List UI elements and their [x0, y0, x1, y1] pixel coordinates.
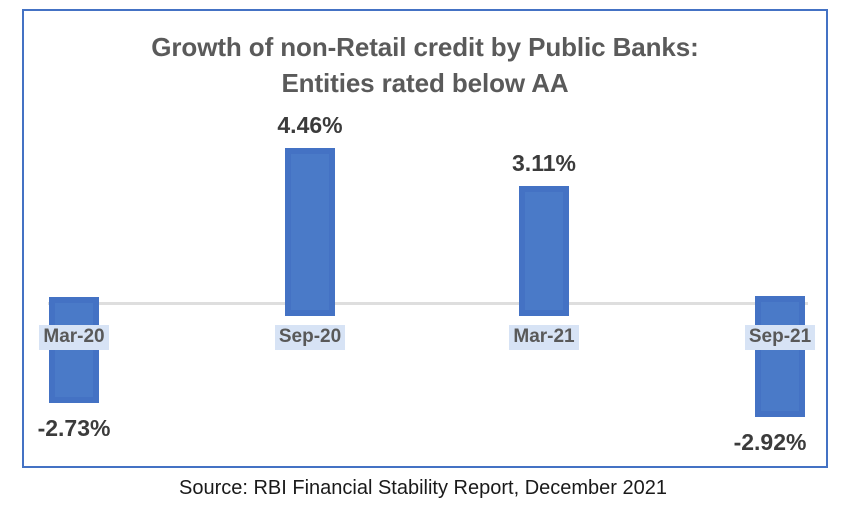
- category-label-mar-20: Mar-20: [0, 325, 154, 350]
- bar-group-0: Mar-20 -2.73%: [0, 11, 154, 466]
- bar-group-2: Mar-21 3.11%: [464, 11, 624, 466]
- category-label-sep-21: Sep-21: [700, 325, 846, 350]
- chart-canvas: Growth of non-Retail credit by Public Ba…: [0, 0, 846, 512]
- bar-sep-20[interactable]: [285, 148, 335, 316]
- category-label-mar-20-text: Mar-20: [39, 325, 108, 350]
- bar-mar-21[interactable]: [519, 186, 569, 316]
- category-label-sep-20: Sep-20: [230, 325, 390, 350]
- chart-plot-frame: Growth of non-Retail credit by Public Ba…: [22, 9, 828, 468]
- category-label-sep-21-text: Sep-21: [745, 325, 815, 350]
- category-label-sep-20-text: Sep-20: [275, 325, 345, 350]
- category-label-mar-21: Mar-21: [464, 325, 624, 350]
- value-label-sep-21: -2.92%: [690, 429, 846, 456]
- value-label-mar-21: 3.11%: [464, 150, 624, 177]
- value-label-sep-20: 4.46%: [230, 112, 390, 139]
- source-note: Source: RBI Financial Stability Report, …: [0, 477, 846, 500]
- bar-mar-20[interactable]: [49, 297, 99, 403]
- plot-area: Mar-20 -2.73% Sep-20 4.46% Mar-21 3.11%: [24, 11, 826, 466]
- bar-sep-21[interactable]: [755, 296, 805, 417]
- category-label-mar-21-text: Mar-21: [509, 325, 578, 350]
- bar-group-1: Sep-20 4.46%: [230, 11, 390, 466]
- bar-group-3: Sep-21 -2.92%: [700, 11, 846, 466]
- value-label-mar-20: -2.73%: [0, 415, 154, 442]
- zero-axis-line: [48, 302, 808, 305]
